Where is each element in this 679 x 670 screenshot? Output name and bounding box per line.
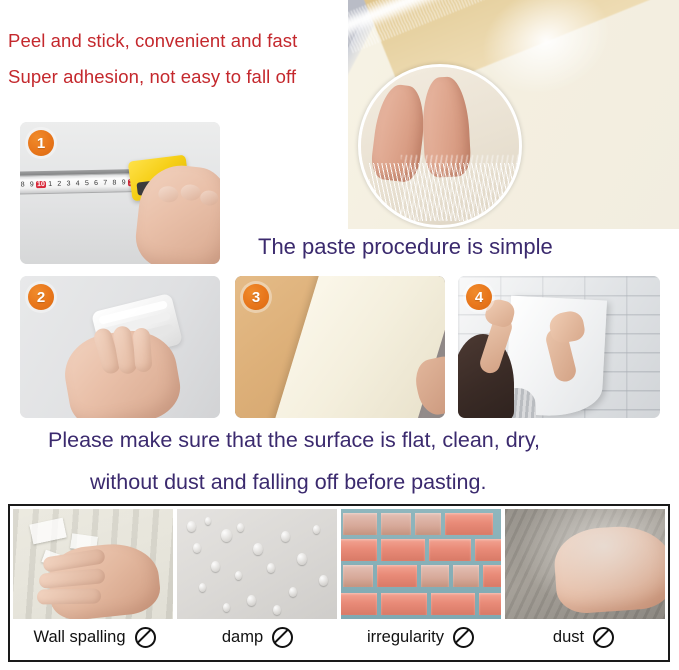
water-droplet (199, 583, 206, 592)
headline-peel-and-stick: Peel and stick, convenient and fast (8, 30, 297, 52)
knuckle (158, 185, 180, 203)
water-droplet (289, 587, 297, 597)
avoid-label-text: irregularity (367, 628, 444, 647)
brick (381, 593, 427, 615)
step-badge-1: 1 (28, 130, 54, 156)
prohibition-icon (272, 627, 293, 648)
tape-tick: 6 (91, 180, 100, 187)
warning-line-1: Please make sure that the surface is fla… (48, 428, 540, 453)
prohibition-icon (593, 627, 614, 648)
avoid-label-wall-spalling: Wall spalling (13, 618, 176, 656)
tape-tick: 2 (55, 181, 64, 188)
brick (381, 539, 425, 561)
finger (37, 588, 101, 604)
brick (341, 593, 377, 615)
super-viscous-callout: Super Viscous (358, 64, 522, 228)
brick (381, 513, 411, 535)
brick (429, 539, 471, 561)
knuckle (199, 190, 218, 207)
brick (415, 513, 441, 535)
avoid-surfaces-panel: Wall spalling damp irregularity dust (8, 504, 670, 662)
brick (453, 565, 479, 587)
avoid-label-damp: damp (176, 618, 339, 656)
avoid-label-dust: dust (502, 618, 665, 656)
infographic-stage: Peel and stick, convenient and fast Supe… (0, 0, 679, 670)
avoid-label-text: Wall spalling (33, 628, 125, 647)
brick (343, 565, 373, 587)
step-photo-2: 2 (20, 276, 220, 418)
avoid-photo-damp (177, 509, 337, 619)
prohibition-icon (135, 627, 156, 648)
brick (377, 565, 417, 587)
step-badge-3: 3 (243, 284, 269, 310)
water-droplet (237, 523, 244, 532)
water-droplet (267, 563, 275, 573)
brick (343, 513, 377, 535)
tape-tick: 9 (119, 179, 128, 186)
headline-super-adhesion: Super adhesion, not easy to fall off (8, 66, 296, 88)
brick (475, 539, 501, 561)
tape-tick: 5 (82, 180, 91, 187)
section-heading-paste-procedure: The paste procedure is simple (258, 234, 553, 260)
step-badge-4: 4 (466, 284, 492, 310)
avoid-label-row: Wall spalling damp irregularity dust (13, 618, 665, 656)
water-droplet (205, 517, 211, 525)
water-droplet (297, 553, 307, 565)
brick (479, 593, 501, 615)
water-droplet (313, 525, 320, 534)
water-droplet (247, 595, 256, 606)
tape-tick: 10 (36, 181, 45, 188)
hero-adhesive-photo: Super Viscous (348, 0, 679, 229)
water-droplet (319, 575, 328, 586)
step-photo-4: 4 (458, 276, 660, 418)
water-droplet (281, 531, 290, 542)
avoid-label-text: dust (553, 628, 584, 647)
tape-tick: 7 (101, 180, 110, 187)
brick (421, 565, 449, 587)
water-droplet (273, 605, 281, 615)
tape-tick: 3 (64, 180, 73, 187)
step-photo-3: 3 (235, 276, 445, 418)
water-droplet (253, 543, 263, 555)
tape-tick: 1 (45, 181, 54, 188)
avoid-photo-dust (505, 509, 665, 619)
brick (341, 539, 377, 561)
avoid-photo-irregularity (341, 509, 501, 619)
avoid-photo-wall-spalling (13, 509, 173, 619)
water-droplet (187, 521, 196, 532)
avoid-label-text: damp (222, 628, 263, 647)
tape-tick: 9 (27, 181, 36, 188)
knuckle (180, 184, 202, 202)
brick (445, 513, 493, 535)
tape-tick: 4 (73, 180, 82, 187)
finger (132, 327, 152, 372)
avoid-photo-row (13, 509, 665, 619)
water-droplet (193, 543, 201, 553)
brick (483, 565, 501, 587)
tape-tick: 8 (110, 179, 119, 186)
avoid-label-irregularity: irregularity (339, 618, 502, 656)
prohibition-icon (453, 627, 474, 648)
water-droplet (223, 603, 230, 612)
callout-glue-strands-secondary (401, 155, 521, 221)
brick (431, 593, 475, 615)
step-photo-1: 8 9 10 1 2 3 4 5 6 7 8 9 10 1 2 3 1 (20, 122, 220, 264)
water-droplet (221, 529, 232, 542)
warning-line-2: without dust and falling off before past… (90, 470, 486, 495)
dust-film-overlay (505, 509, 665, 619)
step-badge-2: 2 (28, 284, 54, 310)
water-droplet (211, 561, 220, 572)
water-droplet (235, 571, 242, 580)
